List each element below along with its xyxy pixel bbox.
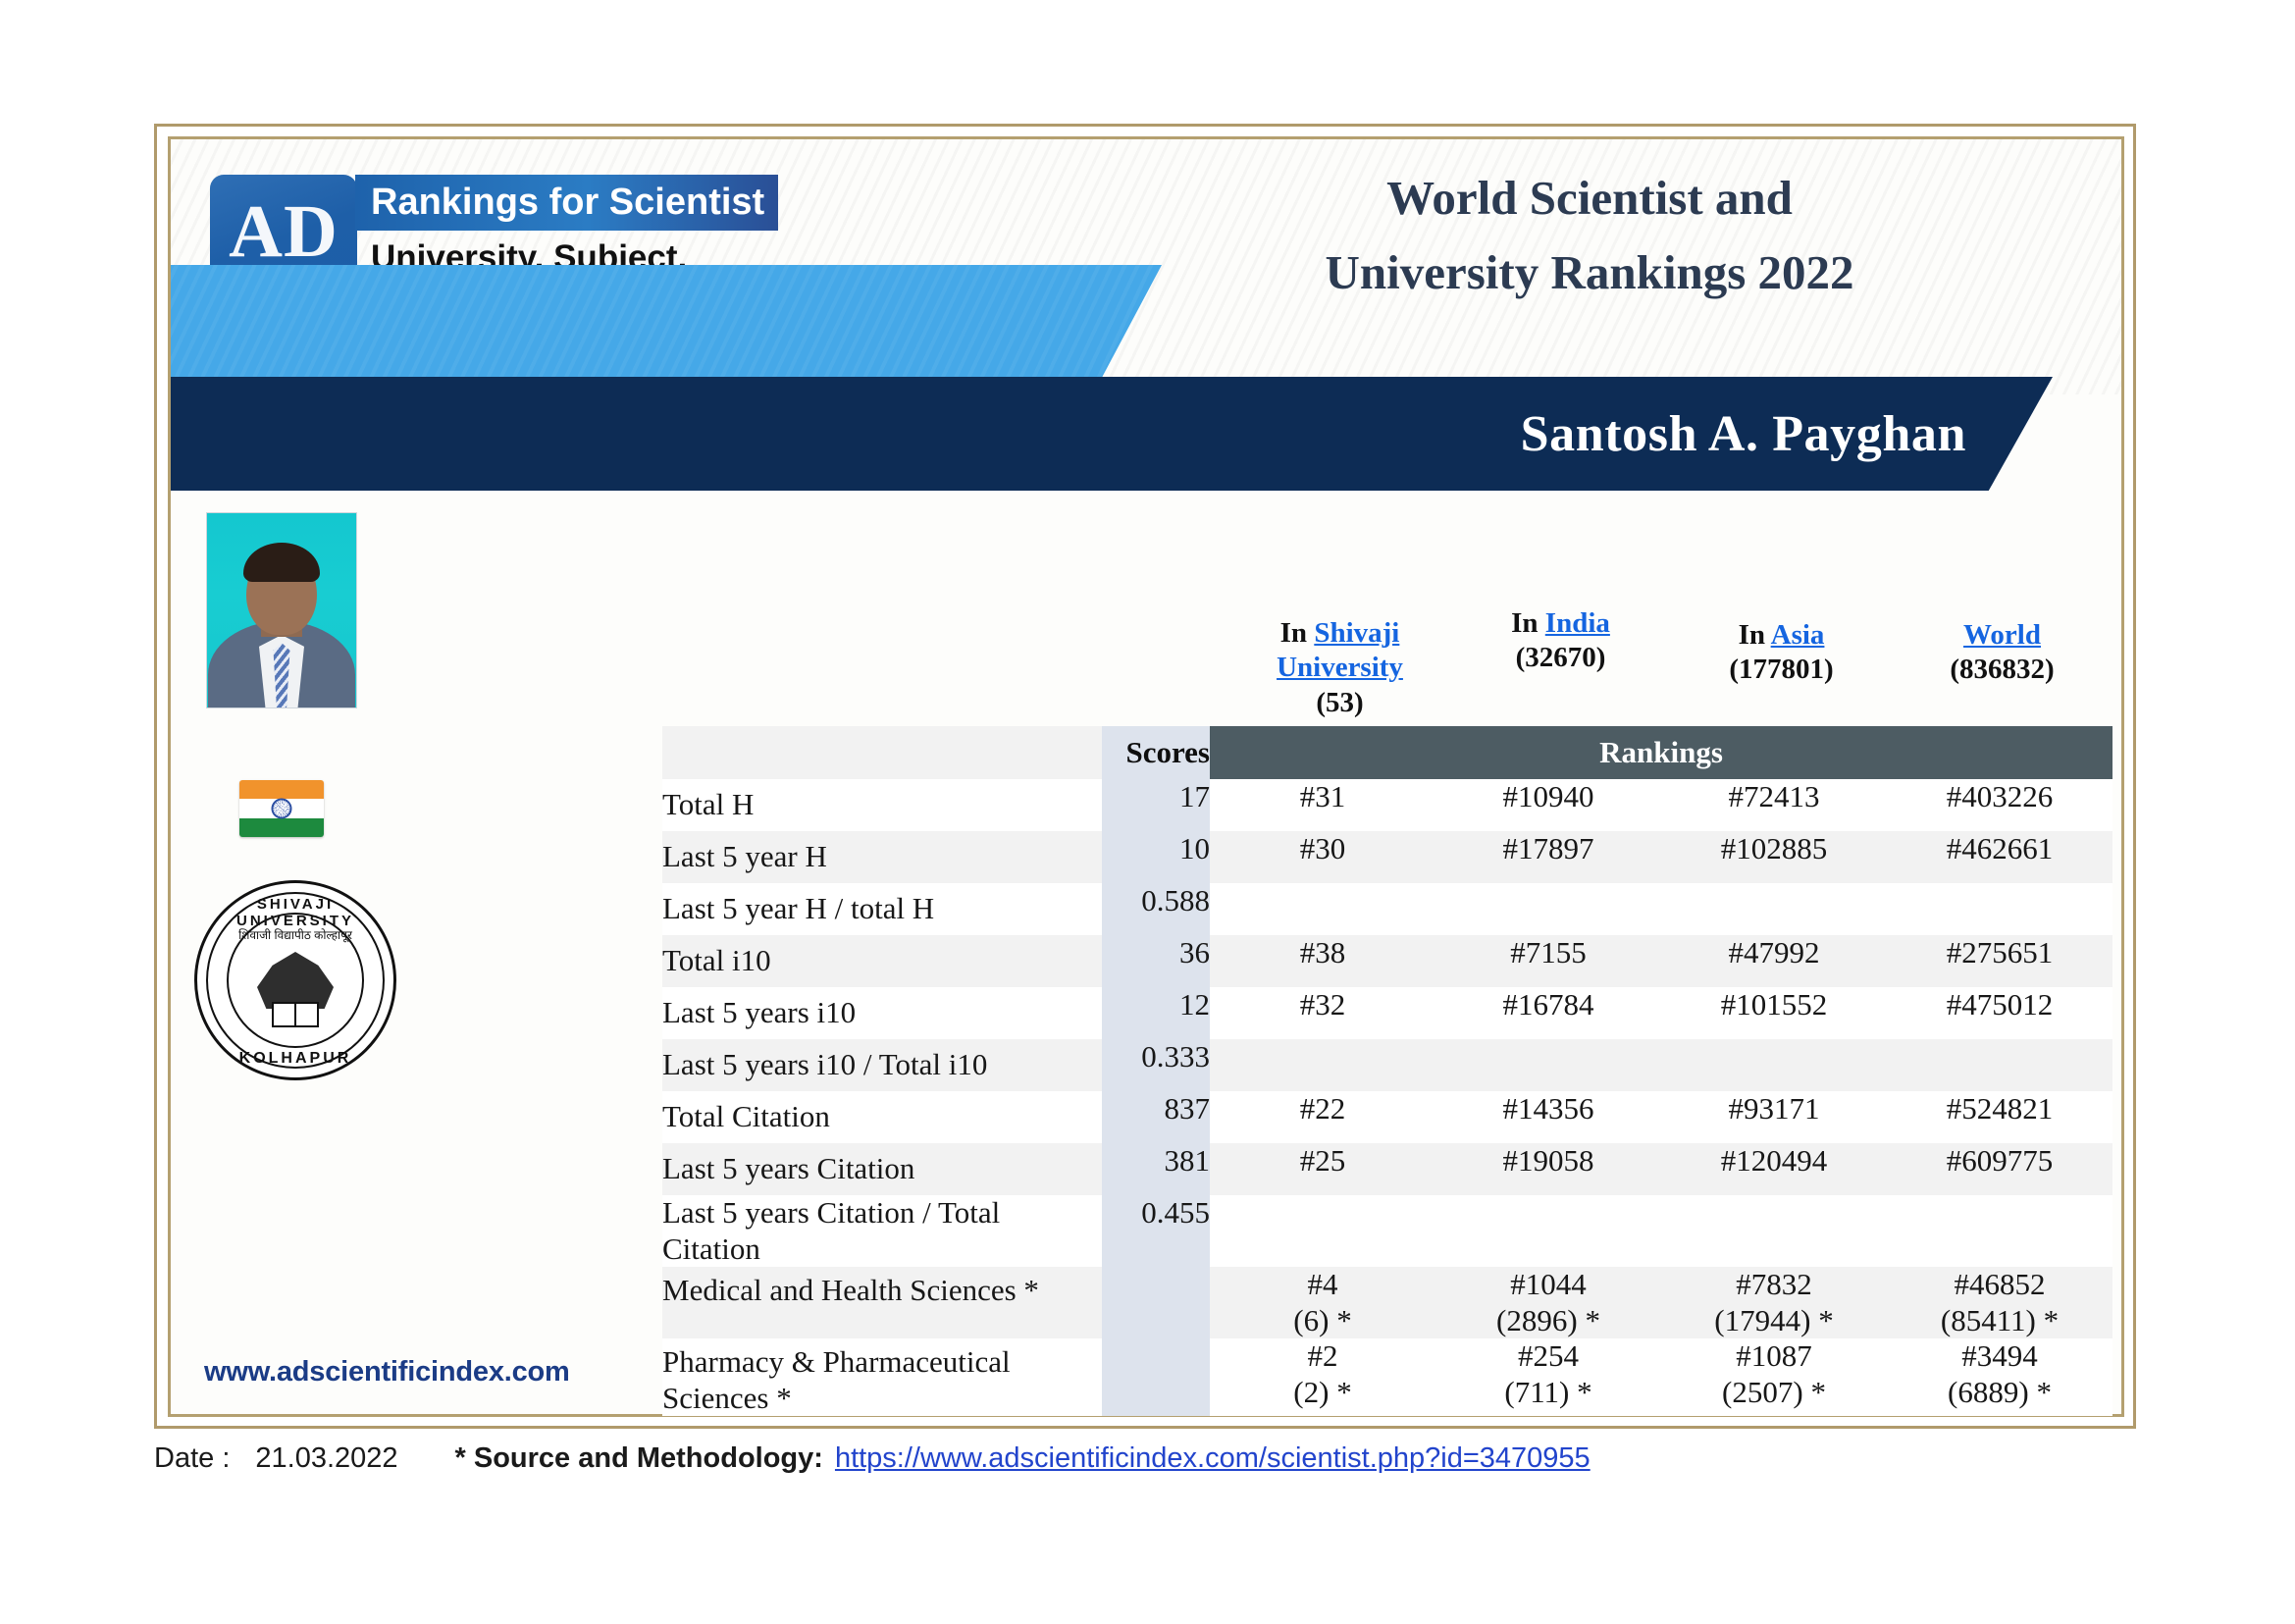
row-rank-0: #30 <box>1210 831 1435 883</box>
row-label: Last 5 years i10 <box>662 987 1102 1039</box>
row-rank-1: #14356 <box>1435 1091 1661 1143</box>
row-rank-0 <box>1210 1195 1435 1267</box>
row-rank-3: #462661 <box>1887 831 2112 883</box>
row-rank-sub-1: (711) * <box>1435 1375 1661 1411</box>
row-score: 381 <box>1102 1143 1210 1195</box>
row-rank-0: #22 <box>1210 1091 1435 1143</box>
scientist-name: Santosh A. Payghan <box>171 377 1966 491</box>
scores-column-header: Scores <box>1102 726 1210 779</box>
rank-scope-count: (177801) <box>1729 654 1833 685</box>
row-score: 17 <box>1102 779 1210 831</box>
seal-top-text: SHIVAJI UNIVERSITY <box>197 896 393 929</box>
rankings-band-right <box>1887 726 2112 779</box>
flag-white-stripe <box>239 799 324 817</box>
row-score: 10 <box>1102 831 1210 883</box>
row-rank-0: #2(2) * <box>1210 1338 1435 1416</box>
seal-book-icon <box>272 1002 319 1027</box>
row-rank-1: #19058 <box>1435 1143 1661 1195</box>
flag-green-stripe <box>239 818 324 837</box>
row-rank-3: #403226 <box>1887 779 2112 831</box>
row-label: Last 5 years Citation / Total Citation <box>662 1195 1102 1267</box>
rank-scope-count: (53) <box>1316 687 1363 718</box>
row-rank-3: #475012 <box>1887 987 2112 1039</box>
row-score: 12 <box>1102 987 1210 1039</box>
row-rank-1 <box>1435 1039 1661 1091</box>
title-line-2: University Rankings 2022 <box>1148 236 2031 310</box>
row-rank-2 <box>1661 883 1887 935</box>
rankings-table-body: Total H17#31#10940#72413#403226Last 5 ye… <box>662 779 2112 1416</box>
row-rank-3 <box>1887 1039 2112 1091</box>
row-label: Last 5 years i10 / Total i10 <box>662 1039 1102 1091</box>
row-rank-0 <box>1210 883 1435 935</box>
rank-scope-header-0: In Shivaji University(53) <box>1229 606 1450 722</box>
row-rank-2 <box>1661 1039 1887 1091</box>
rank-scope-header-3: World(836832) <box>1892 606 2112 722</box>
row-rank-sub-3: (6889) * <box>1887 1375 2112 1411</box>
row-rank-2: #93171 <box>1661 1091 1887 1143</box>
row-rank-1: #17897 <box>1435 831 1661 883</box>
table-row: Last 5 year H / total H0.588 <box>662 883 2112 935</box>
row-score: 0.588 <box>1102 883 1210 935</box>
row-score <box>1102 1338 1210 1416</box>
site-url[interactable]: www.adscientificindex.com <box>204 1356 570 1388</box>
row-rank-0: #38 <box>1210 935 1435 987</box>
row-rank-2 <box>1661 1195 1887 1267</box>
rank-scope-prefix: In <box>1511 607 1545 639</box>
row-rank-3: #46852(85411) * <box>1887 1267 2112 1338</box>
rankings-table: Scores Rankings Total H17#31#10940#72413… <box>662 726 2112 1416</box>
row-rank-1: #1044(2896) * <box>1435 1267 1661 1338</box>
photo-hair <box>243 543 320 582</box>
row-rank-0: #32 <box>1210 987 1435 1039</box>
row-label: Last 5 year H <box>662 831 1102 883</box>
rank-scope-count: (32670) <box>1516 642 1606 673</box>
row-rank-2: #101552 <box>1661 987 1887 1039</box>
page-title: World Scientist and University Rankings … <box>1148 161 2031 310</box>
rank-scope-header-1: In India(32670) <box>1450 606 1671 722</box>
row-label: Medical and Health Sciences * <box>662 1267 1102 1338</box>
rankings-band-title: Rankings <box>1435 726 1887 779</box>
table-corner-blank <box>662 726 1102 779</box>
row-rank-1 <box>1435 1195 1661 1267</box>
rank-scope-link[interactable]: India <box>1545 607 1610 639</box>
light-blue-banner <box>171 265 1162 377</box>
table-row: Total i1036#38#7155#47992#275651 <box>662 935 2112 987</box>
row-rank-1: #7155 <box>1435 935 1661 987</box>
bottom-meta-bar: Date : 21.03.2022 * Source and Methodolo… <box>154 1442 2136 1475</box>
row-rank-0: #31 <box>1210 779 1435 831</box>
table-row: Total H17#31#10940#72413#403226 <box>662 779 2112 831</box>
university-seal: SHIVAJI UNIVERSITY शिवाजी विद्यापीठ कोल्… <box>194 880 396 1080</box>
row-rank-1: #16784 <box>1435 987 1661 1039</box>
row-rank-0: #4(6) * <box>1210 1267 1435 1338</box>
row-rank-sub-3: (85411) * <box>1887 1303 2112 1339</box>
row-rank-3: #3494(6889) * <box>1887 1338 2112 1416</box>
poster-page: AD Scientific Index Rankings for Scienti… <box>0 0 2295 1624</box>
row-rank-3 <box>1887 883 2112 935</box>
row-score: 0.455 <box>1102 1195 1210 1267</box>
table-row: Pharmacy & Pharmaceutical Sciences *#2(2… <box>662 1338 2112 1416</box>
row-score: 0.333 <box>1102 1039 1210 1091</box>
table-row: Last 5 years Citation / Total Citation0.… <box>662 1195 2112 1267</box>
row-rank-3: #609775 <box>1887 1143 2112 1195</box>
row-label: Total Citation <box>662 1091 1102 1143</box>
row-label: Total i10 <box>662 935 1102 987</box>
row-rank-sub-2: (2507) * <box>1661 1375 1887 1411</box>
row-rank-sub-0: (2) * <box>1210 1375 1435 1411</box>
rank-scope-header-2: In Asia(177801) <box>1671 606 1892 722</box>
row-rank-sub-0: (6) * <box>1210 1303 1435 1339</box>
rank-scope-prefix: In <box>1280 617 1315 649</box>
table-row: Last 5 years i10 / Total i100.333 <box>662 1039 2112 1091</box>
source-methodology-label: * Source and Methodology: <box>455 1442 823 1475</box>
ranking-scope-headers: In Shivaji University(53)In India(32670)… <box>1229 606 2112 722</box>
row-label: Pharmacy & Pharmaceutical Sciences * <box>662 1338 1102 1416</box>
row-rank-3 <box>1887 1195 2112 1267</box>
logo-rankings-for-scientist: Rankings for Scientist <box>355 175 778 231</box>
ashoka-chakra-icon <box>272 798 292 818</box>
rank-scope-count: (836832) <box>1950 654 2054 685</box>
row-rank-0 <box>1210 1039 1435 1091</box>
rank-scope-prefix: In <box>1739 619 1771 651</box>
logo-ad-text: AD <box>229 196 339 267</box>
rank-scope-link[interactable]: Asia <box>1771 619 1825 651</box>
row-rank-3: #275651 <box>1887 935 2112 987</box>
row-rank-1 <box>1435 883 1661 935</box>
row-rank-sub-2: (17944) * <box>1661 1303 1887 1339</box>
seal-bottom-text: KOLHAPUR <box>197 1050 393 1068</box>
row-rank-2: #72413 <box>1661 779 1887 831</box>
row-label: Last 5 years Citation <box>662 1143 1102 1195</box>
table-row: Last 5 years i1012#32#16784#101552#47501… <box>662 987 2112 1039</box>
table-row: Total Citation837#22#14356#93171#524821 <box>662 1091 2112 1143</box>
row-rank-2: #7832(17944) * <box>1661 1267 1887 1338</box>
table-row: Last 5 year H10#30#17897#102885#462661 <box>662 831 2112 883</box>
row-rank-3: #524821 <box>1887 1091 2112 1143</box>
table-row: Last 5 years Citation381#25#19058#120494… <box>662 1143 2112 1195</box>
row-rank-0: #25 <box>1210 1143 1435 1195</box>
row-rank-2: #102885 <box>1661 831 1887 883</box>
india-flag-icon <box>239 780 324 837</box>
seal-devanagari-text: शिवाजी विद्यापीठ कोल्हापूर <box>197 926 393 943</box>
row-score <box>1102 1267 1210 1338</box>
row-label: Total H <box>662 779 1102 831</box>
row-rank-2: #47992 <box>1661 935 1887 987</box>
date-label: Date : <box>154 1442 230 1475</box>
rankings-band-left <box>1210 726 1435 779</box>
row-label: Last 5 year H / total H <box>662 883 1102 935</box>
table-row: Medical and Health Sciences *#4(6) *#104… <box>662 1267 2112 1338</box>
title-line-1: World Scientist and <box>1148 161 2031 236</box>
flag-saffron-stripe <box>239 780 324 799</box>
row-rank-2: #120494 <box>1661 1143 1887 1195</box>
source-methodology-link[interactable]: https://www.adscientificindex.com/scient… <box>835 1442 1591 1475</box>
rank-scope-link[interactable]: World <box>1963 619 2041 651</box>
row-rank-2: #1087(2507) * <box>1661 1338 1887 1416</box>
row-rank-1: #254(711) * <box>1435 1338 1661 1416</box>
row-rank-sub-1: (2896) * <box>1435 1303 1661 1339</box>
row-rank-1: #10940 <box>1435 779 1661 831</box>
row-score: 837 <box>1102 1091 1210 1143</box>
date-value: 21.03.2022 <box>255 1442 397 1475</box>
row-score: 36 <box>1102 935 1210 987</box>
scientist-photo <box>206 512 357 708</box>
